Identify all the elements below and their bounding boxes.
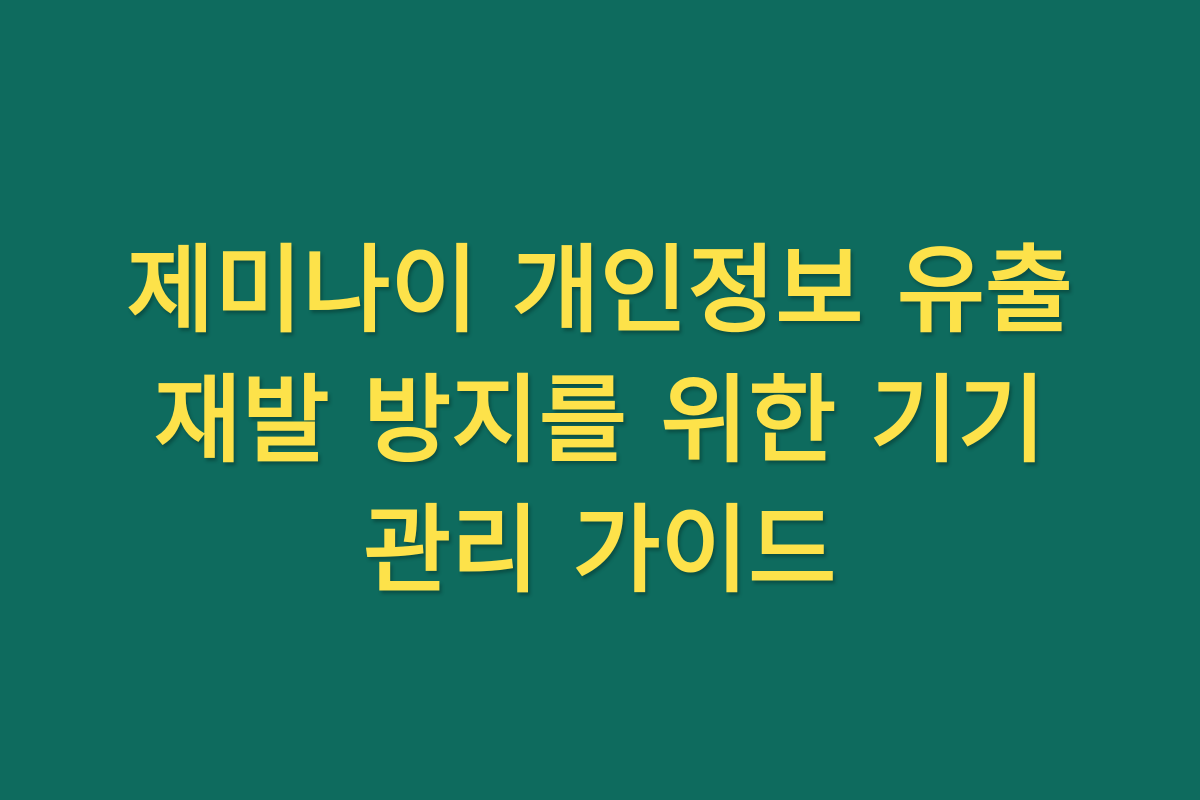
headline-line-3: 관리 가이드 [40, 486, 1160, 616]
poster-canvas: 제미나이 개인정보 유출 재발 방지를 위한 기기 관리 가이드 [0, 0, 1200, 800]
headline-line-1: 제미나이 개인정보 유출 [40, 226, 1160, 356]
page-title: 제미나이 개인정보 유출 재발 방지를 위한 기기 관리 가이드 [40, 226, 1160, 616]
headline-line-2: 재발 방지를 위한 기기 [40, 356, 1160, 486]
